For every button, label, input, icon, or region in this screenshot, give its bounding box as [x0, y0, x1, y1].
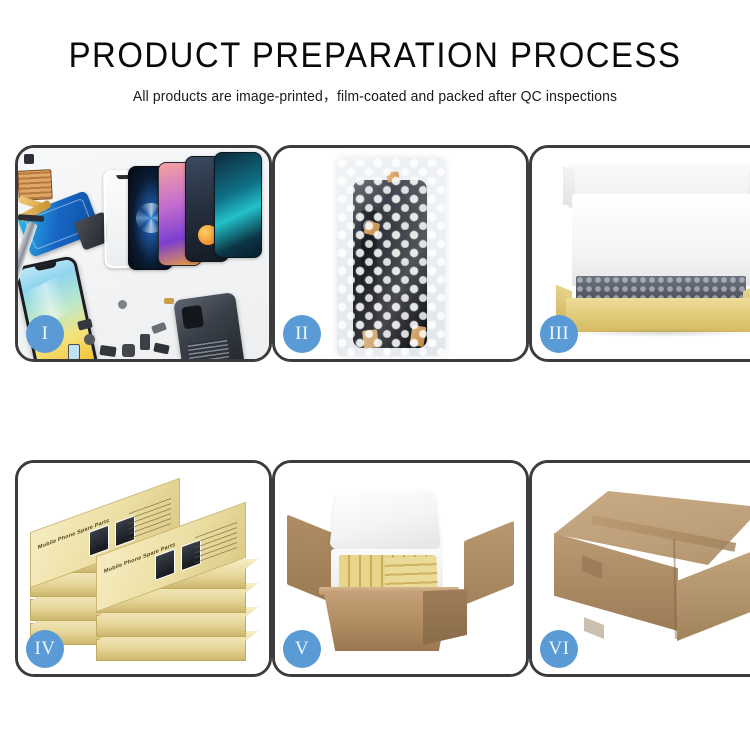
step-badge-5: V — [283, 630, 321, 668]
small-part — [99, 345, 116, 357]
step-badge-6: VI — [540, 630, 578, 668]
product-preparation-infographic: PRODUCT PREPARATION PROCESS All products… — [0, 0, 750, 750]
process-step-panel-3[interactable]: III — [529, 145, 750, 362]
plastic-sheen — [337, 158, 445, 356]
step-badge-1: I — [26, 315, 64, 353]
process-step-panel-6[interactable]: VI — [529, 460, 750, 677]
process-step-panel-2[interactable]: II — [272, 145, 529, 362]
process-step-panel-4[interactable]: Mobile Phone Spare Parts Mobile Phone Sp… — [15, 460, 272, 677]
process-step-panel-5[interactable]: V — [272, 460, 529, 677]
small-part — [122, 344, 135, 357]
box-shadow — [572, 329, 750, 337]
small-part — [118, 300, 127, 309]
box-window-image — [155, 549, 175, 581]
page-subtitle: All products are image-printed，film-coat… — [15, 85, 735, 106]
header: PRODUCT PREPARATION PROCESS All products… — [0, 38, 750, 106]
bubble-wrap-bag — [337, 158, 445, 356]
process-step-grid: I II — [15, 145, 735, 677]
phone-back-housing — [173, 292, 245, 359]
small-part — [164, 298, 174, 304]
stacked-box — [96, 639, 246, 661]
box-front-panel — [566, 298, 750, 332]
step-badge-3: III — [540, 315, 578, 353]
page-title: PRODUCT PREPARATION PROCESS — [23, 38, 728, 75]
small-part — [140, 334, 150, 350]
process-step-panel-1[interactable]: I — [15, 145, 272, 362]
stacked-box — [96, 615, 246, 637]
teal-phone-screen — [214, 152, 262, 258]
box-spec-lines — [195, 518, 237, 563]
box-interior — [572, 194, 750, 286]
foam-box-lid — [329, 491, 441, 550]
small-part — [68, 344, 80, 359]
small-part — [84, 334, 95, 345]
step-badge-2: II — [283, 315, 321, 353]
step-badge-4: IV — [26, 630, 64, 668]
